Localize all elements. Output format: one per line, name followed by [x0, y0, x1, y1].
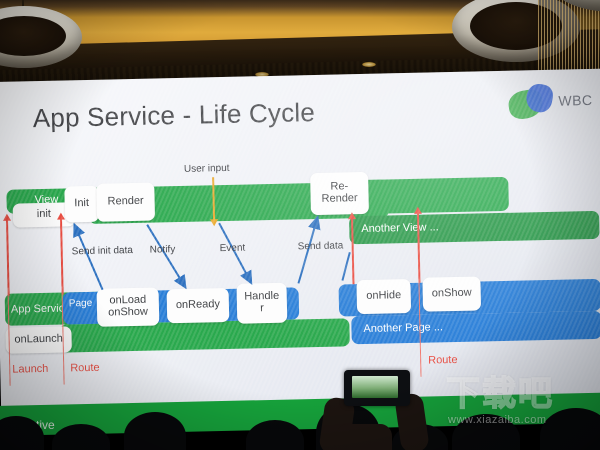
label-user-input: User input — [184, 163, 230, 175]
phase-label-route-1: Route — [70, 362, 100, 375]
watermark: 下载吧 www.xiazaiba.com — [446, 366, 596, 426]
user-input-arrow-head-icon — [210, 219, 218, 226]
downlight-icon — [362, 62, 376, 67]
camera-screen — [352, 376, 398, 398]
label-notify: Notify — [150, 244, 176, 256]
onhide-arrow-head-icon — [348, 212, 356, 219]
onshow-arrow-head-icon — [414, 207, 422, 214]
watermark-cn-text: 下载吧 — [446, 366, 554, 415]
launch-arrow-head-icon — [3, 214, 11, 221]
label-event: Event — [220, 243, 246, 255]
phase-label-launch: Launch — [12, 363, 48, 376]
label-send-data: Send data — [298, 240, 344, 252]
forearm — [336, 424, 392, 450]
label-send-init-data: Send init data — [72, 245, 133, 257]
presentation-photo: App Service - Life Cycle WBC View init I… — [0, 0, 600, 450]
route-arrow-head-icon — [57, 212, 65, 219]
projection-screen: App Service - Life Cycle WBC View init I… — [0, 69, 600, 412]
flow-arrows — [0, 69, 600, 412]
phase-label-route-2: Route — [428, 354, 458, 367]
watermark-url: www.xiazaiba.com — [448, 414, 546, 426]
